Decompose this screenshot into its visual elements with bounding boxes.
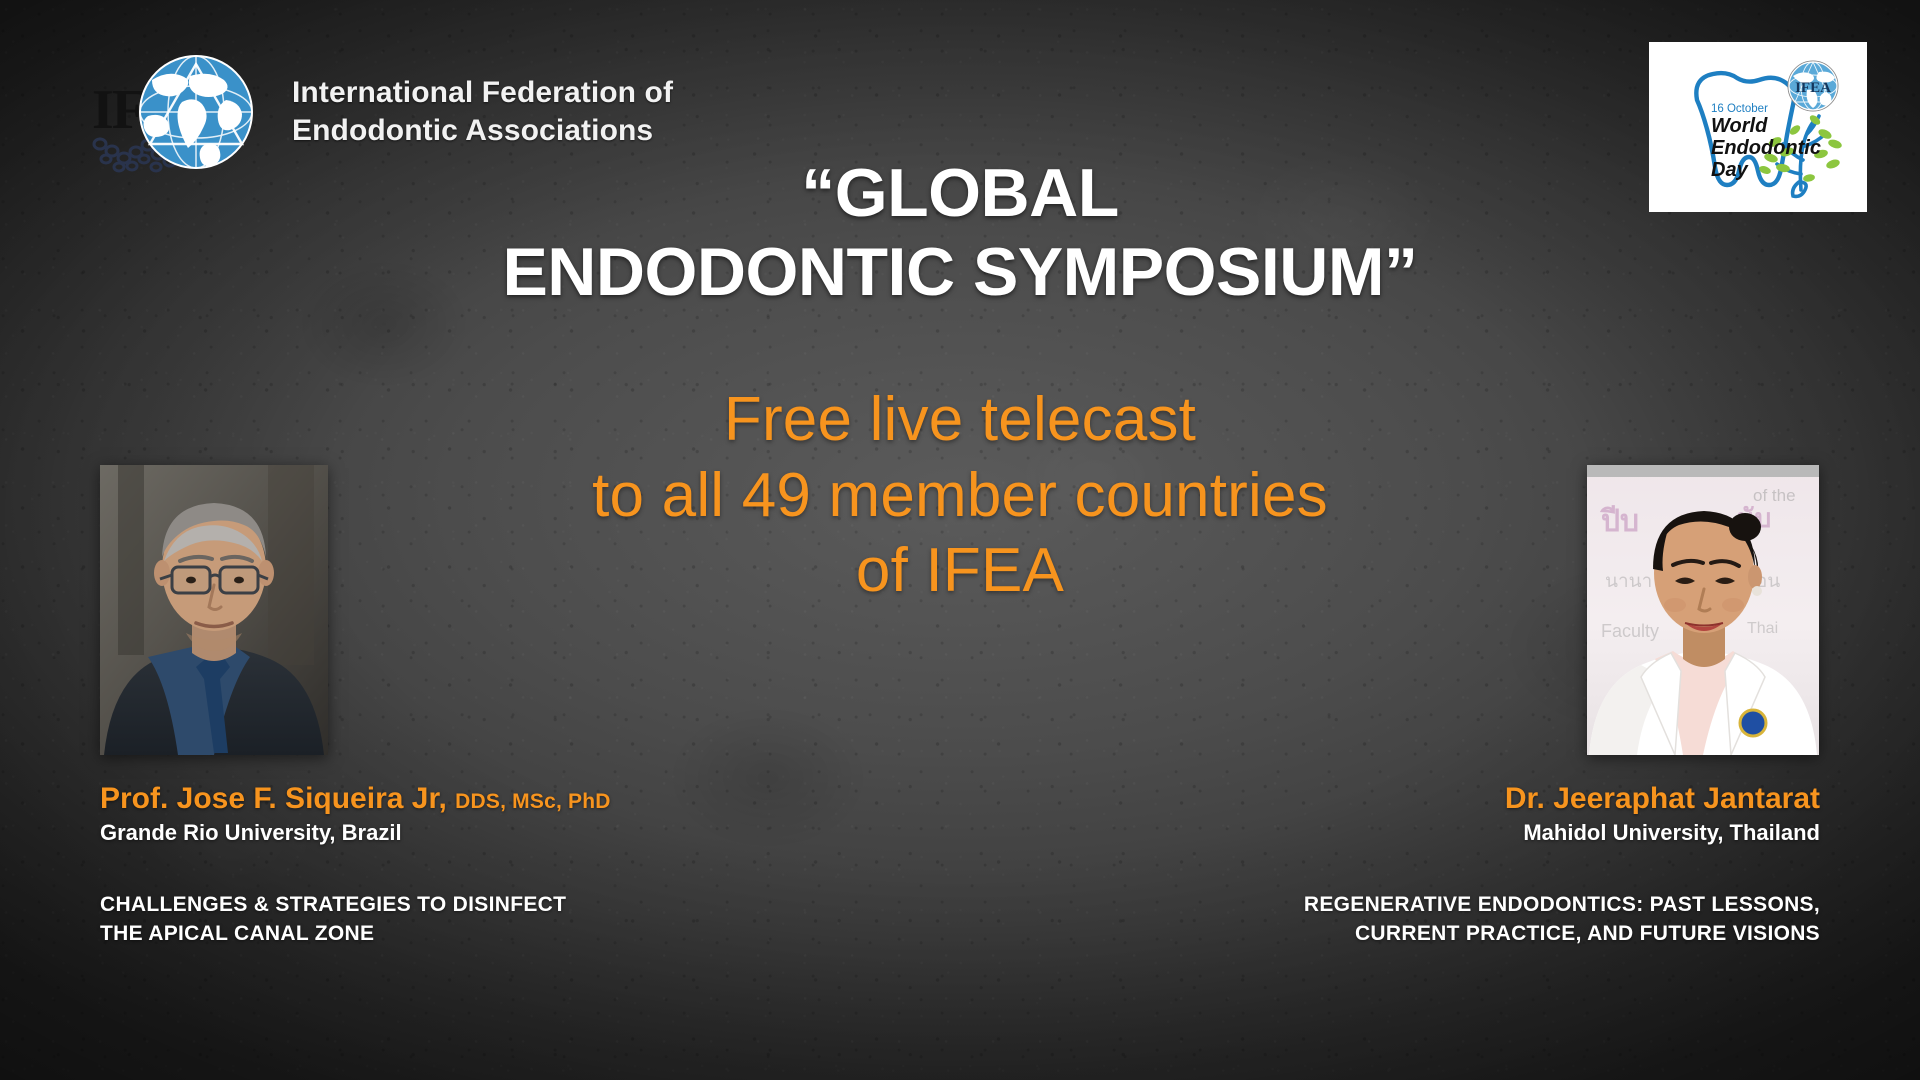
lecture-right-line1: REGENERATIVE ENDODONTICS: PAST LESSONS, (1304, 893, 1820, 916)
symposium-poster: IFEA (0, 0, 1920, 1080)
lecture-left-line2: THE APICAL CANAL ZONE (100, 922, 374, 945)
ifea-name-line1: International Federation of (292, 74, 673, 112)
svg-text:Faculty: Faculty (1601, 621, 1659, 641)
page-title: “GLOBAL ENDODONTIC SYMPOSIUM” (300, 154, 1620, 312)
lecture-left-line1: CHALLENGES & STRATEGIES TO DISINFECT (100, 893, 566, 916)
speaker-name-left-text: Prof. Jose F. Siqueira Jr, (100, 782, 447, 815)
speaker-lecture-right: REGENERATIVE ENDODONTICS: PAST LESSONS, … (1060, 891, 1820, 949)
badge-title-line2: Endodontic (1711, 137, 1821, 159)
speaker-block-right: Dr. Jeeraphat Jantarat Mahidol Universit… (1060, 782, 1820, 949)
badge-title-line1: World (1711, 115, 1768, 137)
svg-text:ปีบ: ปีบ (1599, 505, 1639, 538)
ifea-logo-text: International Federation of Endodontic A… (292, 74, 673, 151)
speaker-name-left: Prof. Jose F. Siqueira Jr, DDS, MSc, PhD (100, 782, 860, 816)
speaker-photo-right: ปีบ นับ of the นานา เดือน Faculty Thai (1587, 465, 1819, 755)
speaker-name-right-text: Dr. Jeeraphat Jantarat (1505, 782, 1820, 815)
subtitle: Free live telecast to all 49 member coun… (335, 382, 1585, 609)
lecture-right-line2: CURRENT PRACTICE, AND FUTURE VISIONS (1355, 922, 1820, 945)
subtitle-line1: Free live telecast (335, 382, 1585, 458)
ifea-globe-icon: IFEA (86, 40, 286, 190)
speaker-name-right: Dr. Jeeraphat Jantarat (1060, 782, 1820, 816)
speaker-affiliation-left: Grande Rio University, Brazil (100, 819, 860, 848)
subtitle-line2: to all 49 member countries (335, 458, 1585, 534)
svg-text:Thai: Thai (1747, 620, 1778, 637)
speaker-credentials-left: DDS, MSc, PhD (455, 790, 610, 813)
headline-line2: ENDODONTIC SYMPOSIUM” (300, 233, 1620, 312)
speaker-affiliation-right: Mahidol University, Thailand (1060, 819, 1820, 848)
speaker-portrait-female-icon: ปีบ นับ of the นานา เดือน Faculty Thai (1587, 465, 1819, 755)
badge-globe-label: IFEA (1795, 80, 1831, 96)
badge-title-line3: Day (1711, 159, 1749, 181)
world-endodontic-day-badge: IFEA 16 October World Endodontic Day (1649, 42, 1867, 212)
speaker-block-left: Prof. Jose F. Siqueira Jr, DDS, MSc, PhD… (100, 782, 860, 949)
subtitle-line3: of IFEA (335, 533, 1585, 609)
ifea-name-line2: Endodontic Associations (292, 112, 673, 150)
badge-date: 16 October (1711, 103, 1768, 115)
speaker-portrait-male-icon (100, 465, 328, 755)
speaker-photo-left (100, 465, 328, 755)
speaker-lecture-left: CHALLENGES & STRATEGIES TO DISINFECT THE… (100, 891, 860, 949)
svg-text:นานา: นานา (1605, 571, 1652, 592)
svg-text:of the: of the (1753, 486, 1796, 505)
headline-line1: “GLOBAL (300, 154, 1620, 233)
world-endodontic-day-icon: IFEA 16 October World Endodontic Day (1649, 42, 1867, 212)
